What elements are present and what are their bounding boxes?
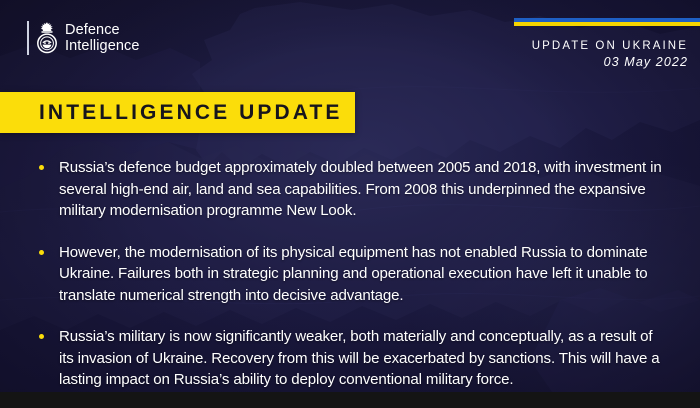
bullet-list: Russia’s defence budget approximately do… [33,157,671,391]
update-on-ukraine-label: UPDATE ON UKRAINE [532,40,688,52]
list-item: Russia’s military is now significantly w… [33,326,671,391]
banner-title: INTELLIGENCE UPDATE [0,101,343,125]
update-heading-block: UPDATE ON UKRAINE 03 May 2022 [532,40,688,69]
ukraine-flag-bar-icon [514,18,700,26]
bullet-text: However, the modernisation of its physic… [59,242,671,307]
list-item: However, the modernisation of its physic… [33,242,671,307]
bullet-dot-icon [39,334,44,339]
royal-crown-crest-icon [36,21,58,55]
intelligence-update-banner: INTELLIGENCE UPDATE [0,92,355,133]
flag-yellow-stripe [514,22,700,26]
bullet-text: Russia’s defence budget approximately do… [59,157,671,222]
logo-line-intelligence: Intelligence [65,38,140,55]
bottom-black-strip [0,392,700,408]
update-date: 03 May 2022 [532,55,688,69]
defence-intelligence-logo: Defence Intelligence [27,21,140,55]
logo-line-defence: Defence [65,22,140,39]
logo-wordmark: Defence Intelligence [65,22,140,55]
bullet-text: Russia’s military is now significantly w… [59,326,671,391]
bullet-dot-icon [39,165,44,170]
list-item: Russia’s defence budget approximately do… [33,157,671,222]
intelligence-update-slide: Defence Intelligence UPDATE ON UKRAINE 0… [0,0,700,408]
logo-divider-rule [27,21,29,55]
bullet-dot-icon [39,250,44,255]
